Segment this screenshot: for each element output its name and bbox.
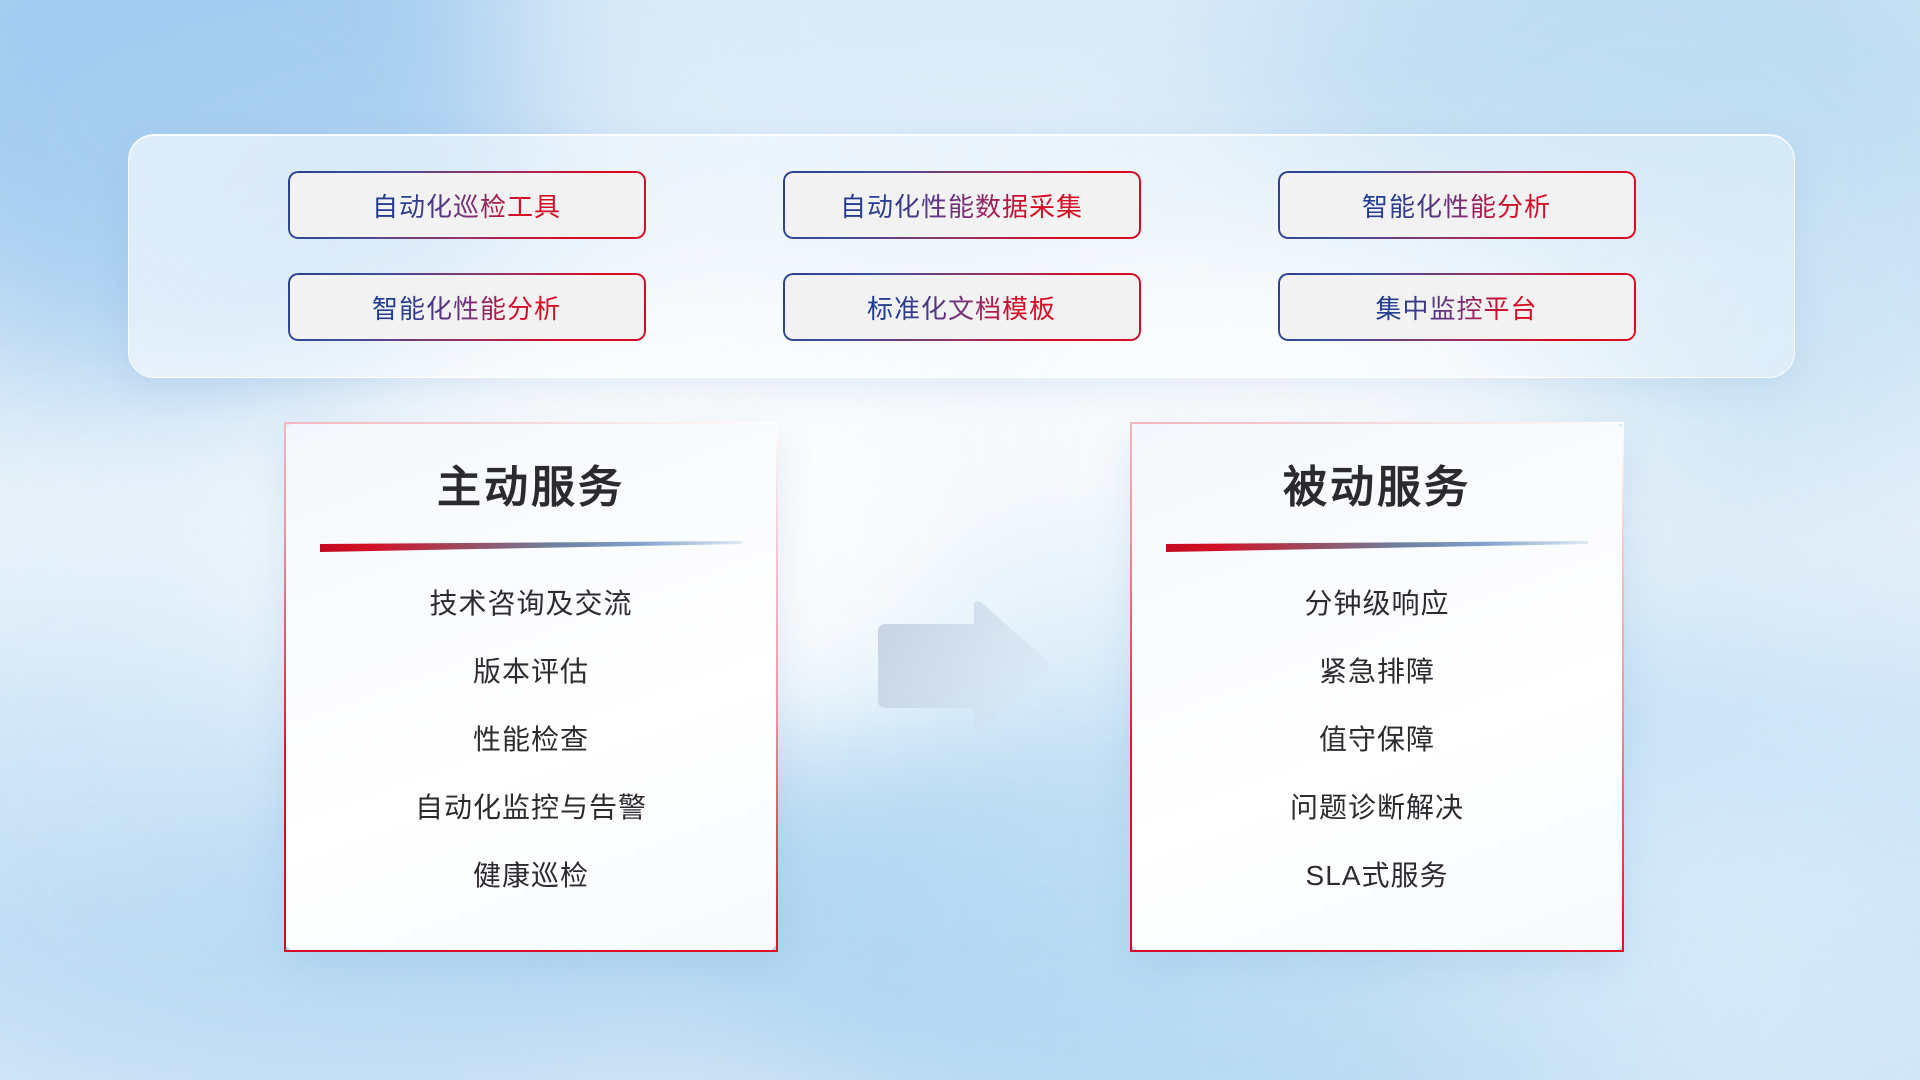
- capability-chip-label: 自动化巡检工具: [372, 187, 561, 224]
- list-item: SLA式服务: [1166, 840, 1588, 908]
- capability-chip-label: 智能化性能分析: [1362, 187, 1551, 224]
- capability-chip-centralized-monitoring-platform[interactable]: 集中监控平台: [1278, 273, 1636, 341]
- list-item: 问题诊断解决: [1166, 772, 1588, 840]
- capability-chip-label: 集中监控平台: [1375, 289, 1537, 326]
- capability-chip-standard-document-template[interactable]: 标准化文档模板: [783, 273, 1141, 341]
- capability-chip-label: 标准化文档模板: [867, 289, 1056, 326]
- service-card-inner: 被动服务 分钟级响应 紧急排障 值守保障: [1132, 424, 1622, 950]
- title-divider: [1166, 541, 1588, 553]
- service-card-inner: 主动服务 技术咨询及交流 版本评估 性能检查: [286, 424, 776, 950]
- list-item: 分钟级响应: [1166, 568, 1588, 636]
- title-divider: [320, 541, 742, 553]
- list-item: 值守保障: [1166, 704, 1588, 772]
- arrow-right-icon: [872, 598, 1052, 738]
- capability-chip-panel: 自动化巡检工具 自动化性能数据采集 智能化性能分析 智能化性能分析 标准化文档模…: [128, 134, 1795, 378]
- list-item: 紧急排障: [1166, 636, 1588, 704]
- list-item: 技术咨询及交流: [320, 568, 742, 636]
- capability-chip-label: 智能化性能分析: [372, 289, 561, 326]
- service-card-item-list: 分钟级响应 紧急排障 值守保障 问题诊断解决 SLA式服务: [1166, 553, 1588, 950]
- capability-chip-grid: 自动化巡检工具 自动化性能数据采集 智能化性能分析 智能化性能分析 标准化文档模…: [288, 171, 1636, 341]
- service-card-title: 主动服务: [320, 462, 742, 515]
- list-item: 健康巡检: [320, 840, 742, 908]
- capability-chip-intelligent-performance-analysis[interactable]: 智能化性能分析: [1278, 171, 1636, 239]
- list-item: 版本评估: [320, 636, 742, 704]
- capability-chip-automated-inspection-tool[interactable]: 自动化巡检工具: [288, 171, 646, 239]
- service-card-proactive: 主动服务 技术咨询及交流 版本评估 性能检查: [284, 422, 778, 952]
- service-card-reactive: 被动服务 分钟级响应 紧急排障 值守保障: [1130, 422, 1624, 952]
- capability-chip-intelligent-performance-analysis-2[interactable]: 智能化性能分析: [288, 273, 646, 341]
- capability-chip-automated-performance-data-collection[interactable]: 自动化性能数据采集: [783, 171, 1141, 239]
- list-item: 性能检查: [320, 704, 742, 772]
- service-card-item-list: 技术咨询及交流 版本评估 性能检查 自动化监控与告警 健康巡检: [320, 553, 742, 950]
- capability-chip-label: 自动化性能数据采集: [840, 187, 1083, 224]
- service-card-title: 被动服务: [1166, 462, 1588, 515]
- list-item: 自动化监控与告警: [320, 772, 742, 840]
